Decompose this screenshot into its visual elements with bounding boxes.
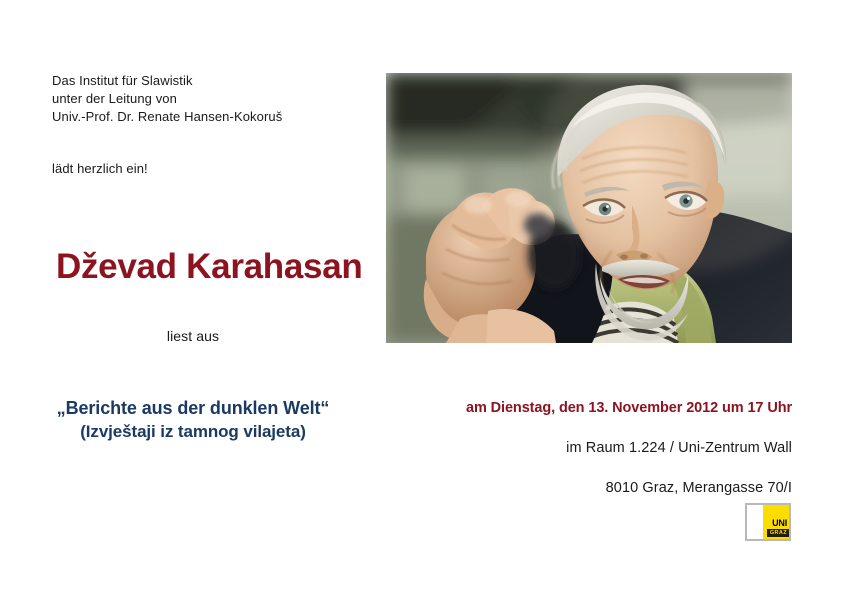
- uni-graz-logo: UNI GRAZ: [745, 503, 791, 541]
- institute-line-2: unter der Leitung von: [52, 90, 282, 108]
- institute-block: Das Institut für Slawistik unter der Lei…: [52, 72, 282, 126]
- institute-line-3: Univ.-Prof. Dr. Renate Hansen-Kokoruš: [52, 108, 282, 126]
- author-portrait-illustration: [386, 73, 792, 343]
- uni-graz-logo-inner: UNI GRAZ: [747, 505, 789, 539]
- book-title-german: „Berichte aus der dunklen Welt“: [0, 396, 386, 420]
- uni-graz-logo-graz-text: GRAZ: [767, 529, 789, 537]
- book-title: „Berichte aus der dunklen Welt“ (Izvješt…: [0, 396, 386, 444]
- event-date: am Dienstag, den 13. November 2012 um 17…: [392, 400, 792, 416]
- invitation-poster: Das Institut für Slawistik unter der Lei…: [0, 0, 842, 595]
- event-details: am Dienstag, den 13. November 2012 um 17…: [392, 400, 792, 496]
- author-portrait-photo: [386, 73, 792, 343]
- event-address: 8010 Graz, Merangasse 70/I: [392, 480, 792, 496]
- institute-line-1: Das Institut für Slawistik: [52, 72, 282, 90]
- event-room: im Raum 1.224 / Uni-Zentrum Wall: [392, 440, 792, 456]
- reading-label: liest aus: [0, 328, 386, 344]
- uni-graz-logo-uni-text: UNI: [772, 519, 787, 528]
- author-name: Dževad Karahasan: [56, 247, 362, 287]
- book-title-original: (Izvještaji iz tamnog vilajeta): [0, 420, 386, 444]
- invitation-line: lädt herzlich ein!: [52, 160, 148, 178]
